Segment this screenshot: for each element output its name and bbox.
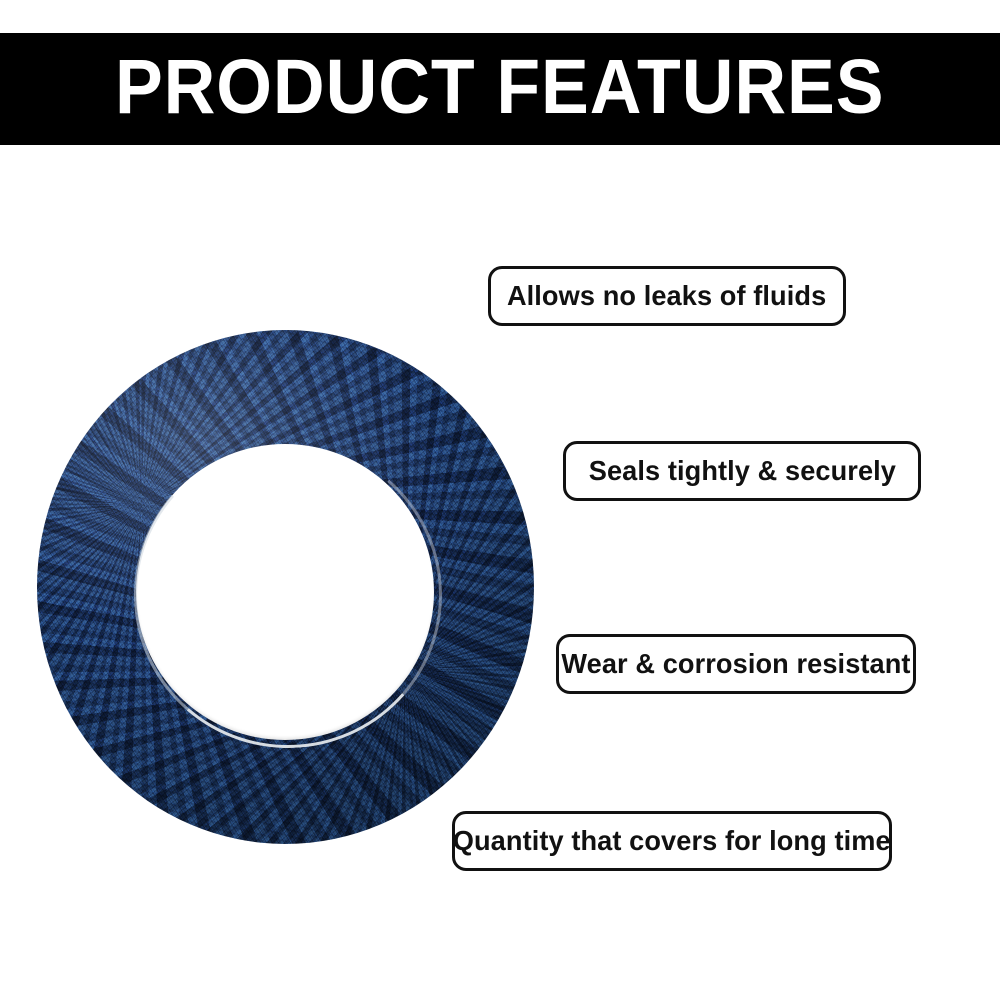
feature-callout-wear-and-corrosion-resistant: Wear & corrosion resistant xyxy=(556,634,916,694)
washer-inner-bore xyxy=(136,444,434,740)
feature-label: Seals tightly & securely xyxy=(588,457,895,485)
header-banner: PRODUCT FEATURES xyxy=(0,33,1000,145)
feature-label: Quantity that covers for long time xyxy=(453,827,891,855)
feature-label: Wear & corrosion resistant xyxy=(561,650,910,678)
page-title: PRODUCT FEATURES xyxy=(115,49,884,130)
feature-label: Allows no leaks of fluids xyxy=(507,282,826,310)
feature-callout-seals-tightly-and-securely: Seals tightly & securely xyxy=(563,441,921,501)
feature-callout-quantity-that-covers-for-long-time: Quantity that covers for long time xyxy=(452,811,892,871)
product-image-washer xyxy=(30,320,542,856)
infographic-canvas: PRODUCT FEATURES Allows no leaks of flui… xyxy=(0,0,1000,1000)
feature-callout-allows-no-leaks-of-fluids: Allows no leaks of fluids xyxy=(488,266,846,326)
